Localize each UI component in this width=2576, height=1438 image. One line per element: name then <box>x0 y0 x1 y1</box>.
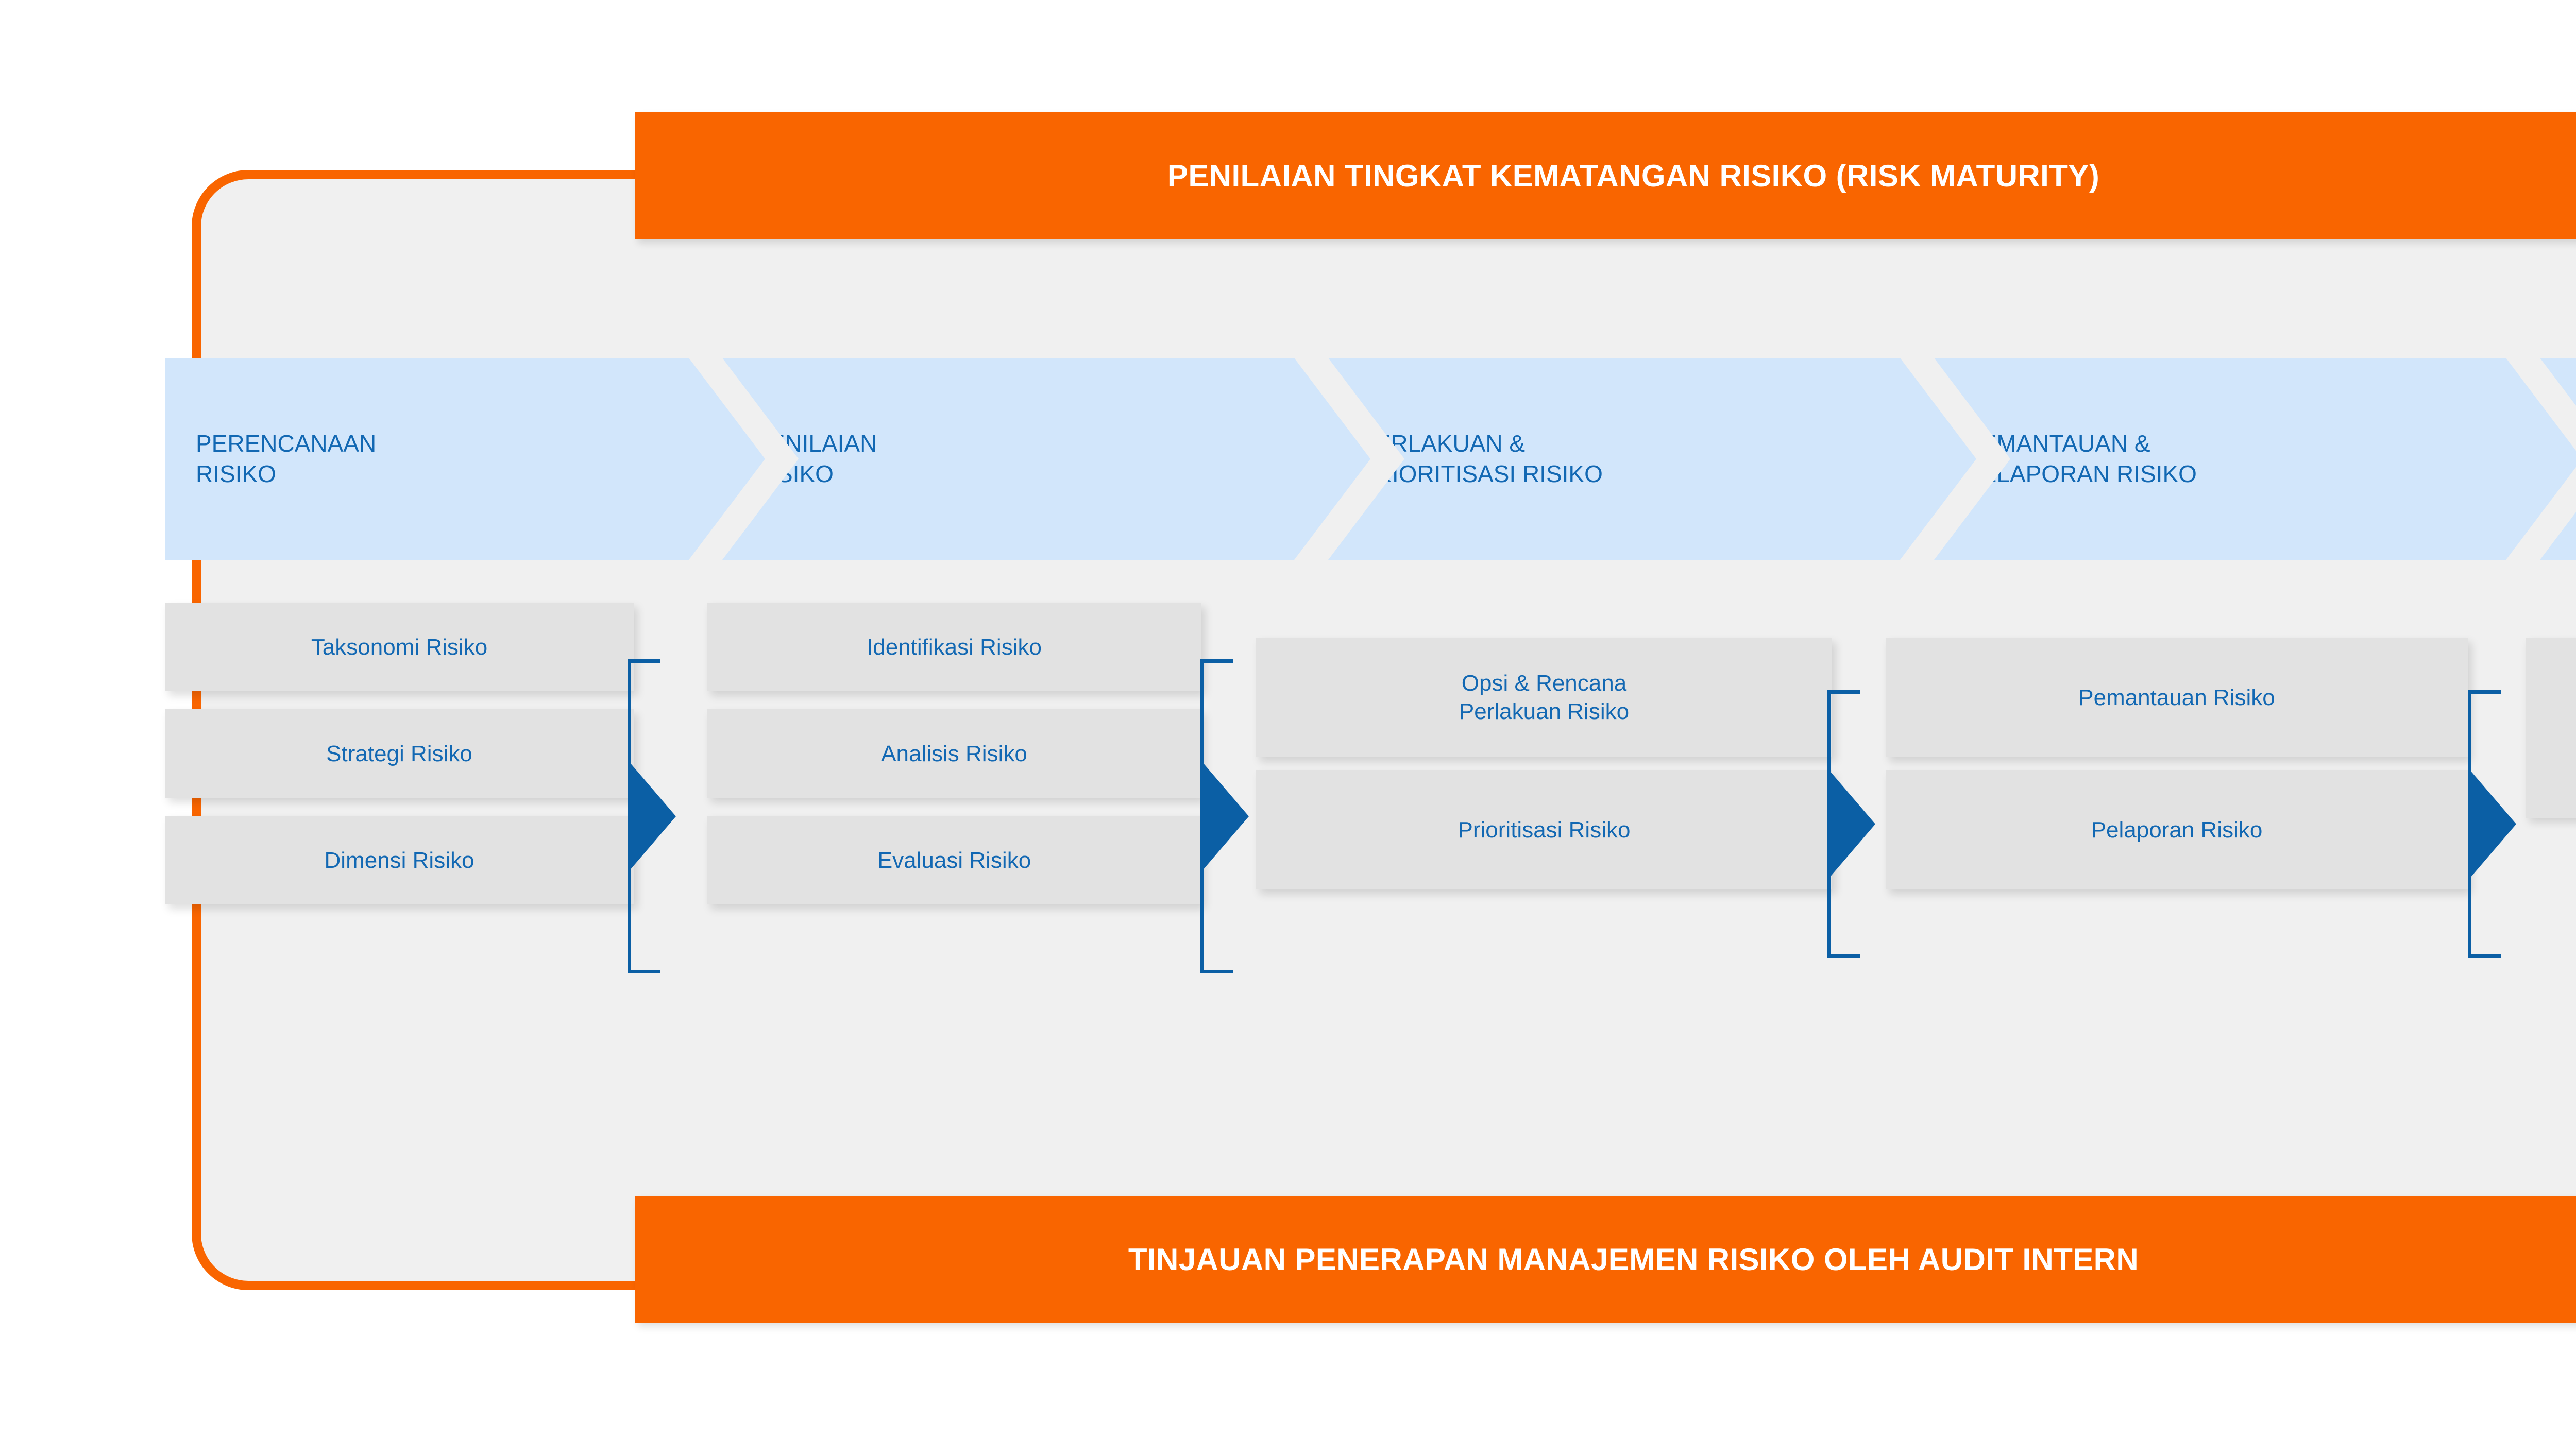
detail-box[interactable]: Identifikasi Risiko <box>707 603 1201 691</box>
top-banner: PENILAIAN TINGKAT KEMATANGAN RISIKO (RIS… <box>635 112 2576 239</box>
detail-box-label: Dimensi Risiko <box>325 846 474 875</box>
phase-chevron-perencanaan-risiko[interactable]: PERENCANAAN RISIKO <box>165 358 765 560</box>
detail-columns: Taksonomi Risiko Strategi Risiko Dimensi… <box>0 587 2576 1076</box>
bracket-bottom-stub <box>1827 954 1860 958</box>
detail-box[interactable]: Strategi Risiko <box>165 709 634 798</box>
bracket-bottom-stub <box>1200 970 1233 973</box>
detail-box[interactable]: Opsi & Rencana Perlakuan Risiko <box>1256 638 1832 757</box>
detail-box[interactable]: Dimensi Risiko <box>165 816 634 904</box>
bracket-top-stub <box>1827 690 1860 694</box>
bracket-bottom-stub <box>628 970 660 973</box>
phase-chevron-perlakuan-prioritisasi-risiko[interactable]: PERLAKUAN & PRIORITISASI RISIKO <box>1328 358 1976 560</box>
detail-box-label: Prioritisasi Risiko <box>1458 816 1631 844</box>
phase-chevron-label: PERENCANAAN RISIKO <box>165 429 376 489</box>
detail-box-label: Opsi & Rencana Perlakuan Risiko <box>1459 669 1629 726</box>
bracket-bottom-stub <box>2468 954 2501 958</box>
detail-box-label: Pemantauan Risiko <box>2078 683 2275 712</box>
detail-box-label: Evaluasi Risiko <box>877 846 1031 875</box>
detail-box[interactable]: Pelaporan Risiko <box>1886 770 2468 889</box>
bracket-top-stub <box>628 659 660 663</box>
phase-chevron-row: PERENCANAAN RISIKO PENILAIAN RISIKO PERL… <box>165 358 2576 560</box>
connector-bracket-arrow-1 <box>628 659 660 973</box>
detail-box[interactable]: Taksonomi Risiko <box>165 603 634 691</box>
top-banner-label: PENILAIAN TINGKAT KEMATANGAN RISIKO (RIS… <box>1167 158 2099 194</box>
bracket-top-stub <box>2468 690 2501 694</box>
arrow-right-icon <box>1202 762 1249 870</box>
detail-box[interactable]: Prioritisasi Risiko <box>1256 770 1832 889</box>
detail-box-label: Strategi Risiko <box>326 740 472 768</box>
arrow-right-icon <box>1829 770 1875 878</box>
bottom-banner-label: TINJAUAN PENERAPAN MANAJEMEN RISIKO OLEH… <box>1128 1242 2139 1277</box>
connector-bracket-arrow-3 <box>1827 690 1860 958</box>
detail-box-label: Pelaporan Risiko <box>2091 816 2263 844</box>
detail-box[interactable]: Analisis Risiko <box>707 709 1201 798</box>
connector-bracket-arrow-4 <box>2468 690 2501 958</box>
phase-chevron-penilaian-risiko[interactable]: PENILAIAN RISIKO <box>722 358 1370 560</box>
bottom-banner: TINJAUAN PENERAPAN MANAJEMEN RISIKO OLEH… <box>635 1196 2576 1323</box>
phase-chevron-pemantauan-pelaporan-risiko[interactable]: PEMANTAUAN & PELAPORAN RISIKO <box>1934 358 2576 560</box>
detail-box-label: Analisis Risiko <box>881 740 1027 768</box>
detail-box-label: Taksonomi Risiko <box>311 633 487 661</box>
detail-box-label: Identifikasi Risiko <box>867 633 1042 661</box>
bracket-top-stub <box>1200 659 1233 663</box>
detail-box[interactable]: Tinjauan dan Perbaikan Berkelanjutan ole… <box>2526 638 2576 818</box>
arrow-right-icon <box>630 762 676 870</box>
detail-box[interactable]: Evaluasi Risiko <box>707 816 1201 904</box>
detail-box[interactable]: Pemantauan Risiko <box>1886 638 2468 757</box>
arrow-right-icon <box>2470 770 2516 878</box>
connector-bracket-arrow-2 <box>1200 659 1233 973</box>
